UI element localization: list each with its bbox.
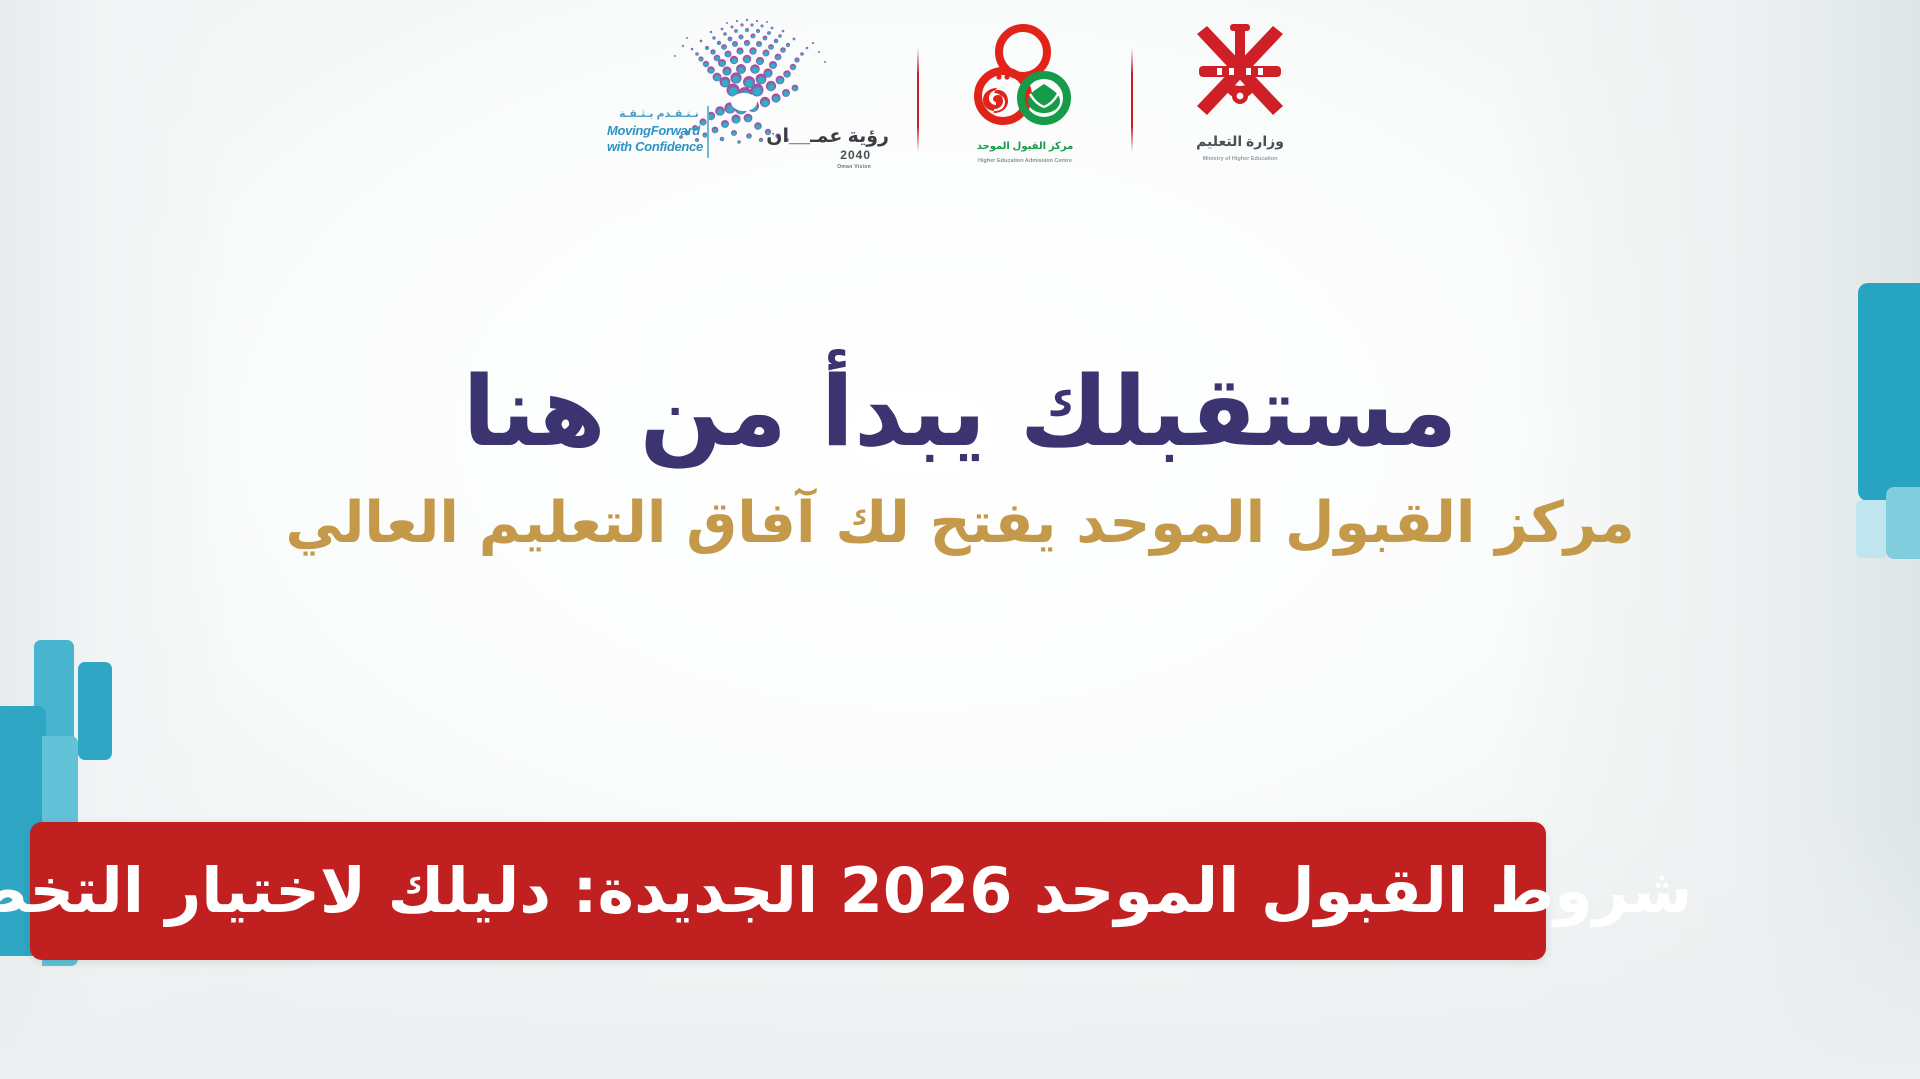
vision-tagline-en-line1: MovingForward [607, 123, 700, 138]
hero-slogan: مستقبلك يبدأ من هنا مركز القبول الموحد ي… [0, 360, 1920, 556]
vision-tagline-ar: نـتـقـدم بـثـقـة [619, 107, 699, 120]
logo-ministry-of-higher-education: وزارة التعليم Ministry of Higher Educati… [1155, 16, 1325, 166]
admission-centre-caption-en: Higher Education Admission Centre [941, 158, 1109, 164]
vision-caption-number: 2040 [840, 148, 871, 162]
ministry-caption-ar: وزارة التعليم [1155, 133, 1325, 150]
admission-centre-rings-icon [963, 22, 1083, 130]
logo-divider-1 [917, 48, 919, 152]
vision-tagline-divider [707, 106, 709, 158]
headline-banner-text: شروط القبول الموحد 2026 الجديدة: دليلك ل… [0, 860, 1692, 922]
hero-slogan-main: مستقبلك يبدأ من هنا [0, 360, 1920, 465]
decorative-book-left-2 [78, 662, 112, 760]
logo-divider-2 [1131, 48, 1133, 152]
poster-canvas: نـتـقـدم بـثـقـة MovingForward with Conf… [0, 0, 1920, 1079]
hero-slogan-sub: مركز القبول الموحد يفتح لك آفاق التعليم … [0, 491, 1920, 557]
vision-caption-ar: رؤية عمـ__ان [766, 125, 889, 148]
headline-banner: شروط القبول الموحد 2026 الجديدة: دليلك ل… [30, 822, 1546, 960]
vision-caption-sub: Oman Vision [837, 164, 871, 170]
logo-strip: نـتـقـدم بـثـقـة MovingForward with Conf… [0, 16, 1920, 166]
vision-tagline-en-line2: with Confidence [607, 139, 703, 154]
oman-national-emblem-icon [1183, 20, 1297, 124]
logo-oman-vision-2040: نـتـقـدم بـثـقـة MovingForward with Conf… [595, 16, 895, 166]
ministry-caption-en: Ministry of Higher Education [1155, 156, 1325, 162]
logo-higher-education-admission-centre: مركز القبول الموحد Higher Education Admi… [941, 16, 1109, 166]
admission-centre-caption-ar: مركز القبول الموحد [941, 141, 1109, 152]
